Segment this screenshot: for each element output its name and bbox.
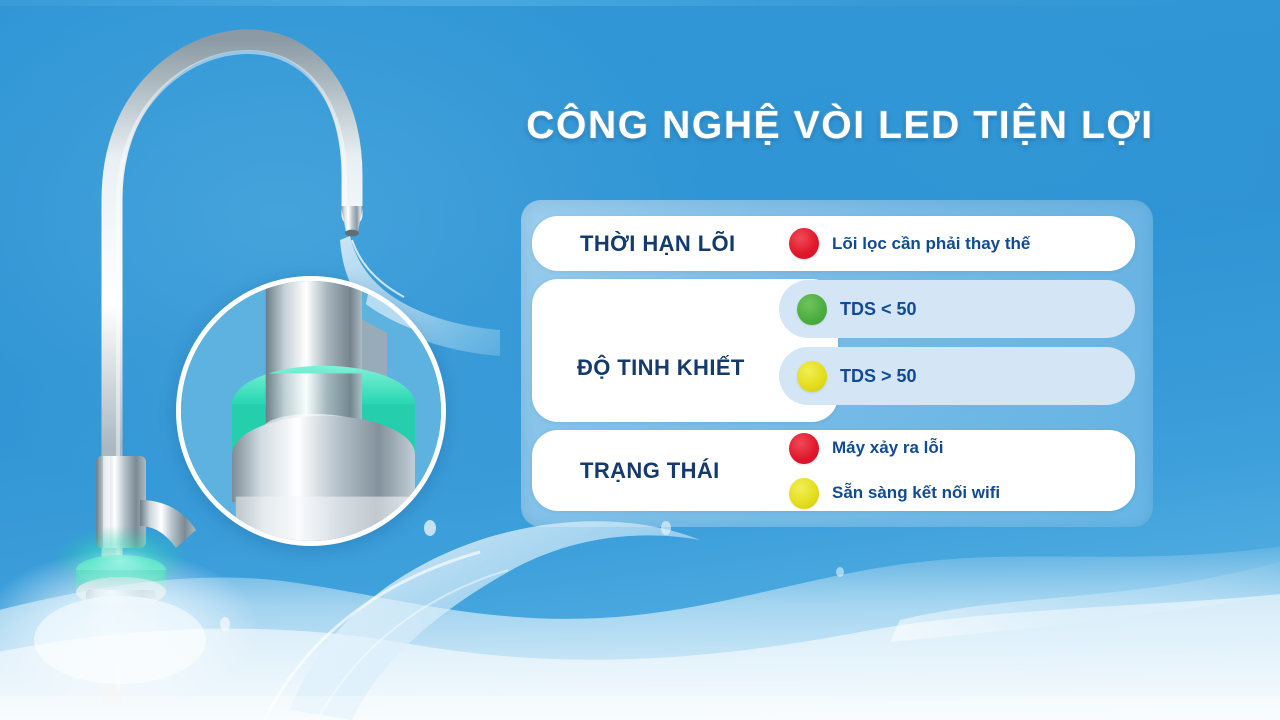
legend-row-label: ĐỘ TINH KHIẾT <box>577 355 745 381</box>
status-list-filter-life: Lõi lọc cần phải thay thế <box>789 216 1030 271</box>
status-item: Lõi lọc cần phải thay thế <box>789 228 1030 259</box>
legend-panel: THỜI HẠN LÕI Lõi lọc cần phải thay thế Đ… <box>521 200 1153 527</box>
status-list-machine: Máy xảy ra lỗi Sẵn sàng kết nối wifi <box>789 430 1000 511</box>
status-dot-yellow-icon <box>789 478 819 509</box>
faucet-spout-tip <box>341 206 363 232</box>
legend-row-label: TRẠNG THÁI <box>580 458 720 484</box>
status-text: TDS > 50 <box>840 366 917 387</box>
legend-row-label: THỜI HẠN LÕI <box>580 231 736 257</box>
status-text: Máy xảy ra lỗi <box>832 438 944 458</box>
status-dot-yellow-icon <box>797 361 827 392</box>
status-dot-red-icon <box>789 228 819 259</box>
magnifier-circle-led-detail <box>176 276 446 546</box>
status-text: TDS < 50 <box>840 299 917 320</box>
status-text: Sẵn sàng kết nối wifi <box>832 483 1000 503</box>
status-dot-red-icon <box>789 433 819 464</box>
status-pill-tds-high: TDS > 50 <box>779 347 1135 405</box>
status-item: Sẵn sàng kết nối wifi <box>789 478 1000 509</box>
status-dot-green-icon <box>797 294 827 325</box>
poster-canvas: CÔNG NGHỆ VÒI LED TIỆN LỢI THỜI HẠN LÕI … <box>0 0 1280 720</box>
page-title: CÔNG NGHỆ VÒI LED TIỆN LỢI <box>520 104 1160 148</box>
status-pill-tds-low: TDS < 50 <box>779 280 1135 338</box>
status-text: Lõi lọc cần phải thay thế <box>832 234 1030 254</box>
status-item: Máy xảy ra lỗi <box>789 433 1000 464</box>
magnifier-chrome-collar <box>232 454 415 502</box>
